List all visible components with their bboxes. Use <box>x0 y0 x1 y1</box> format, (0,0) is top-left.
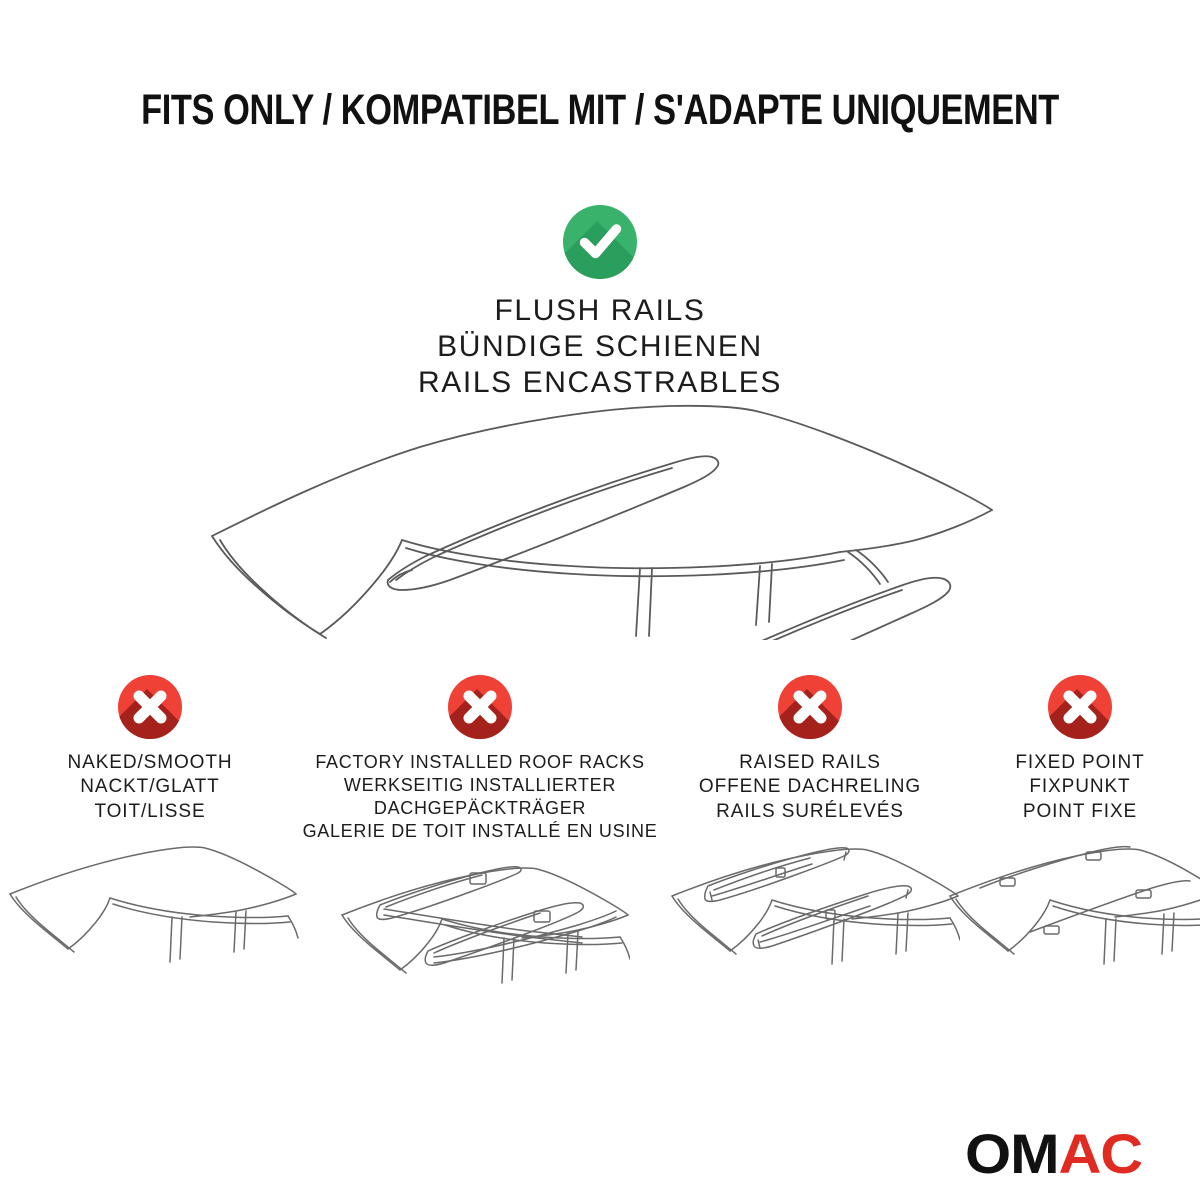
car-roof-flush-rails-svg <box>200 400 1000 640</box>
car-roof-fixed-point-svg <box>940 834 1200 1034</box>
label-line-fr: TOIT/LISSE <box>68 800 233 824</box>
x-glyph <box>778 675 842 739</box>
incompatible-label: FIXED POINT FIXPUNKT POINT FIXE <box>1015 751 1144 824</box>
incompatible-section: NAKED/SMOOTH NACKT/GLATT TOIT/LISSE <box>0 675 1200 1053</box>
compatible-label: FLUSH RAILS BÜNDIGE SCHIENEN RAILS ENCAS… <box>418 293 782 401</box>
fixed-point-illustration <box>940 834 1200 1034</box>
x-glyph <box>118 675 182 739</box>
incompatible-item-raised-rails: RAISED RAILS OFFENE DACHRELING RAILS SUR… <box>660 675 960 1034</box>
x-glyph <box>448 675 512 739</box>
x-circle-icon <box>1048 675 1112 739</box>
label-line-fr: POINT FIXE <box>1015 800 1144 824</box>
car-roof-naked-svg <box>0 834 300 1034</box>
infographic-page: FITS ONLY / KOMPATIBEL MIT / S'ADAPTE UN… <box>0 0 1200 1200</box>
incompatible-label: RAISED RAILS OFFENE DACHRELING RAILS SUR… <box>699 751 921 824</box>
label-line-en: RAISED RAILS <box>699 751 921 775</box>
check-glyph <box>563 205 637 279</box>
label-line-en: FACTORY INSTALLED ROOF RACKS <box>303 751 658 774</box>
label-line-fr: GALERIE DE TOIT INSTALLÉ EN USINE <box>303 820 658 843</box>
label-line-de: NACKT/GLATT <box>68 775 233 799</box>
compatible-label-de: BÜNDIGE SCHIENEN <box>418 329 782 365</box>
incompatible-label: NAKED/SMOOTH NACKT/GLATT TOIT/LISSE <box>68 751 233 824</box>
incompatible-item-factory-roof-racks: FACTORY INSTALLED ROOF RACKS WERKSEITIG … <box>300 675 660 1053</box>
car-roof-raised-rails-svg <box>660 834 960 1034</box>
x-glyph <box>1048 675 1112 739</box>
compatible-label-en: FLUSH RAILS <box>418 293 782 329</box>
page-title: FITS ONLY / KOMPATIBEL MIT / S'ADAPTE UN… <box>120 86 1080 135</box>
label-line-de-1: WERKSEITIG INSTALLIERTER <box>303 774 658 797</box>
logo-text-om: OM <box>965 1122 1059 1185</box>
omac-logo: OMAC <box>965 1126 1142 1182</box>
check-circle-icon <box>563 205 637 279</box>
label-line-en: FIXED POINT <box>1015 751 1144 775</box>
label-line-de: FIXPUNKT <box>1015 775 1144 799</box>
x-circle-icon <box>778 675 842 739</box>
incompatible-item-fixed-point: FIXED POINT FIXPUNKT POINT FIXE <box>960 675 1200 1034</box>
incompatible-label: FACTORY INSTALLED ROOF RACKS WERKSEITIG … <box>303 751 658 843</box>
raised-rails-illustration <box>660 834 960 1034</box>
x-circle-icon <box>448 675 512 739</box>
incompatible-item-naked-smooth: NAKED/SMOOTH NACKT/GLATT TOIT/LISSE <box>0 675 300 1034</box>
label-line-de: OFFENE DACHRELING <box>699 775 921 799</box>
x-circle-icon <box>118 675 182 739</box>
label-line-fr: RAILS SURÉLEVÉS <box>699 800 921 824</box>
label-line-de-2: DACHGEPÄCKTRÄGER <box>303 797 658 820</box>
compatible-section: FLUSH RAILS BÜNDIGE SCHIENEN RAILS ENCAS… <box>0 205 1200 401</box>
compatible-label-fr: RAILS ENCASTRABLES <box>418 365 782 401</box>
logo-text-ac: AC <box>1058 1122 1142 1185</box>
naked-smooth-illustration <box>0 834 300 1034</box>
flush-rails-illustration <box>0 400 1200 640</box>
factory-roof-racks-illustration <box>330 853 630 1053</box>
label-line-en: NAKED/SMOOTH <box>68 751 233 775</box>
car-roof-racks-svg <box>330 853 630 1053</box>
